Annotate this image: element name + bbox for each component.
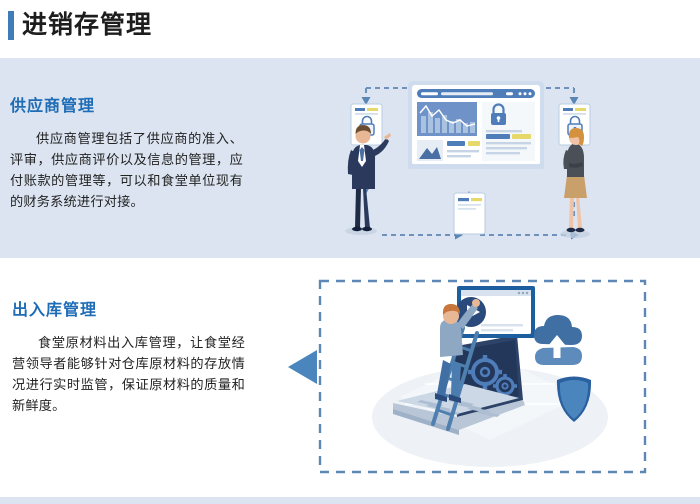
cloud-upload-icon [534, 315, 582, 365]
dashboard-right-panel [482, 102, 535, 161]
section-body-supplier: 供应商管理包括了供应商的准入、评审，供应商评价以及信息的管理，应付账款的管理等，… [10, 128, 243, 212]
document-card-bottom [454, 193, 485, 234]
dashboard-screen [408, 81, 544, 169]
dashboard-thumbnail-card [417, 140, 443, 161]
dashboard-tag-blue [447, 141, 465, 146]
laptop-maintenance-illustration [285, 272, 655, 492]
page-header: 进销存管理 [0, 0, 700, 58]
title-accent-bar [8, 11, 14, 40]
bottom-strip [0, 497, 700, 504]
page-title: 进销存管理 [22, 8, 152, 42]
data-exchange-dashboard-illustration [320, 68, 630, 248]
bar-line-chart [417, 102, 477, 136]
dashboard-tag-yellow [468, 141, 480, 146]
section-heading-warehouse: 出入库管理 [12, 296, 97, 320]
section-heading-supplier: 供应商管理 [10, 92, 95, 116]
section-body-warehouse: 食堂原材料出入库管理，让食堂经营领导者能够针对仓库原材料的存放情况进行实时监管，… [12, 332, 245, 416]
left-triangle-pointer [288, 350, 317, 384]
